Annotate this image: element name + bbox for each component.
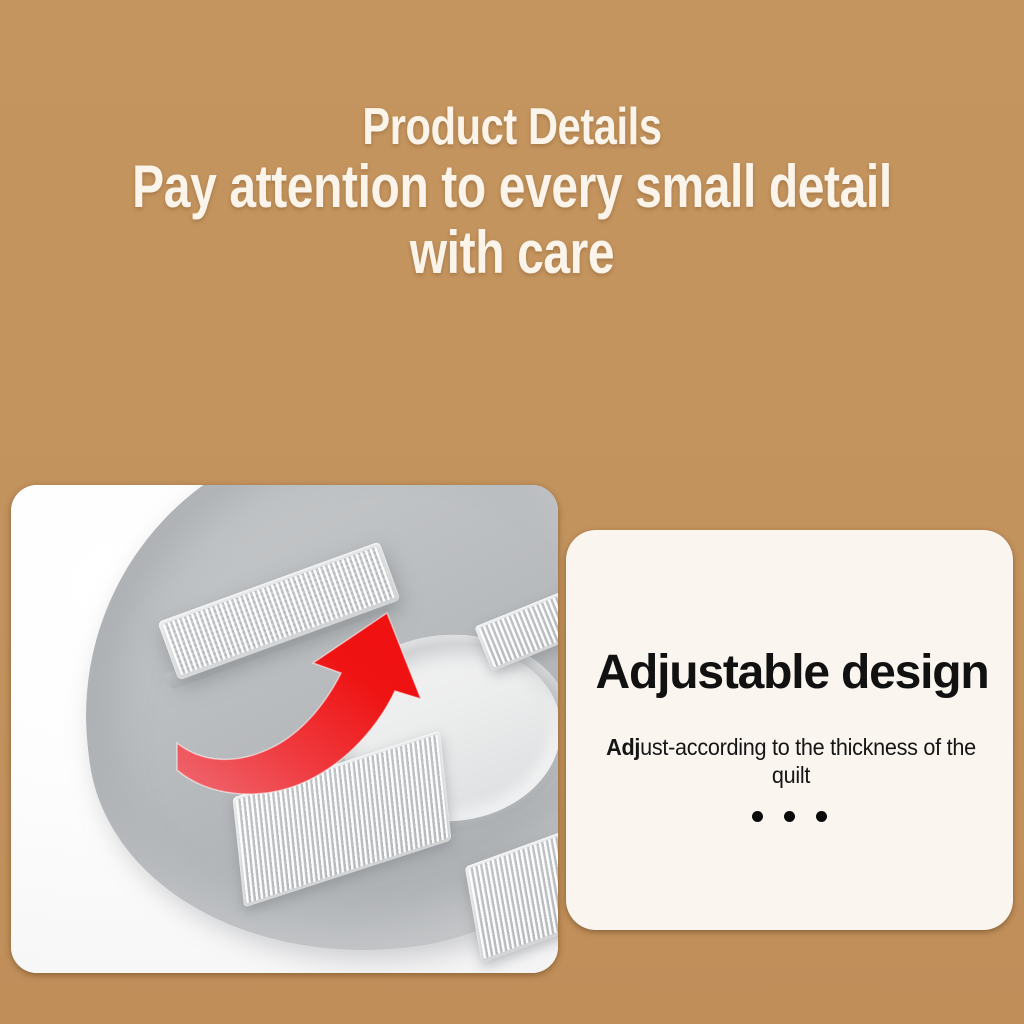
product-photo-scene	[11, 485, 558, 973]
info-card-inner: Adjustable design Adjust-according to th…	[566, 530, 1013, 930]
info-card-subtitle-strong: Adj	[606, 734, 640, 760]
dot-indicator	[784, 811, 795, 822]
product-photo-card	[11, 485, 558, 973]
info-card-subtitle: Adjust-according to the thickness of the…	[587, 733, 995, 789]
banner-heading: Product Details Pay attention to every s…	[0, 98, 1024, 286]
info-card-subtitle-rest: ust-according to the thickness of the qu…	[640, 734, 976, 788]
pagination-dots	[566, 811, 1013, 822]
info-card-title: Adjustable design	[582, 645, 1002, 701]
dot-indicator	[816, 811, 827, 822]
product-detail-banner: Product Details Pay attention to every s…	[0, 0, 1024, 1024]
heading-line-secondary: Pay attention to every small detail with…	[102, 154, 921, 286]
info-card: Adjustable design Adjust-according to th…	[566, 530, 1013, 930]
heading-line-primary: Product Details	[102, 98, 921, 156]
dot-indicator	[752, 811, 763, 822]
